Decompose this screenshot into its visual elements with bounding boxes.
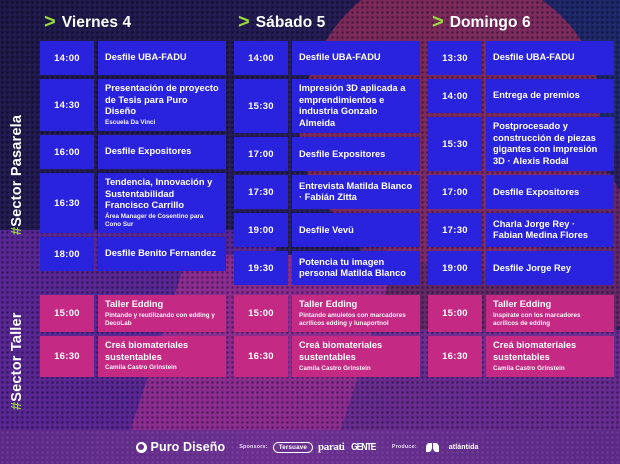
day-title: Sábado 5 (256, 14, 326, 32)
hash-icon: # (9, 227, 25, 235)
event-title: Desfile Vevü (299, 225, 413, 237)
day-column: >Viernes 414:00Desfile UBA-FADU14:30Pres… (40, 10, 226, 377)
chevron-right-icon: > (432, 12, 444, 32)
event-title: Desfile Jorge Rey (493, 263, 607, 275)
producer-name: atlántida (449, 444, 479, 451)
event-body: Entrega de premios (486, 79, 614, 113)
event-title: Postprocesado y construcción de piezas g… (493, 121, 607, 167)
sponsor-tersuave-logo: Tersuave (273, 442, 313, 453)
day-header: >Sábado 5 (234, 10, 420, 36)
schedule-row[interactable]: 15:30Impresión 3D aplicada a emprendimie… (234, 79, 420, 133)
event-time: 15:00 (40, 295, 94, 332)
day-columns: >Viernes 414:00Desfile UBA-FADU14:30Pres… (40, 10, 614, 377)
brand-label: Puro Diseño (151, 440, 226, 454)
schedule-row[interactable]: 17:30Entrevista Matilda Blanco · Fabián … (234, 175, 420, 209)
event-title: Desfile UBA-FADU (105, 52, 219, 64)
event-time: 15:00 (234, 295, 288, 332)
event-time: 18:00 (40, 237, 94, 271)
event-title: Desfile UBA-FADU (299, 52, 413, 64)
event-title: Desfile Benito Fernandez (105, 248, 219, 260)
event-time: 19:30 (234, 251, 288, 285)
event-time: 19:00 (234, 213, 288, 247)
schedule-row[interactable]: 16:30Creá biomateriales sustentablesCami… (40, 336, 226, 376)
schedule-row[interactable]: 14:00Entrega de premios (428, 79, 614, 113)
schedule-row[interactable]: 14:00Desfile UBA-FADU (40, 41, 226, 75)
schedule-row[interactable]: 15:00Taller EddingPintando y reutilizand… (40, 295, 226, 332)
schedule-row[interactable]: 16:30Creá biomateriales sustentablesCami… (234, 336, 420, 376)
event-body: Desfile Expositores (486, 175, 614, 209)
schedule-row[interactable]: 16:30Tendencia, Innovación y Sustentabil… (40, 173, 226, 233)
event-body: Potencia tu imagen personal Matilda Blan… (292, 251, 420, 285)
footer: Puro Diseño Sponsors: Tersuave parati GE… (0, 430, 620, 464)
event-title: Desfile Expositores (299, 149, 413, 161)
event-time: 16:30 (234, 336, 288, 376)
event-body: Desfile UBA-FADU (98, 41, 226, 75)
event-subtitle: Camila Castro Grinstein (299, 365, 413, 373)
taller-block: 15:00Taller EddingPintando amuletos con … (234, 295, 420, 376)
sector-label-pasarela: #Sector Pasarela (0, 70, 34, 280)
event-time: 15:30 (234, 79, 288, 133)
pasarela-block: 14:00Desfile UBA-FADU15:30Impresión 3D a… (234, 41, 420, 285)
event-time: 16:30 (40, 173, 94, 233)
pasarela-block: 13:30Desfile UBA-FADU14:00Entrega de pre… (428, 41, 614, 285)
event-title: Creá biomateriales sustentables (299, 340, 413, 363)
event-subtitle: Pintando amuletos con marcadores acrílic… (299, 312, 413, 328)
event-time: 16:00 (40, 135, 94, 169)
event-time: 16:30 (428, 336, 482, 376)
chevron-right-icon: > (238, 12, 250, 32)
event-subtitle: Escuela Da Vinci (105, 119, 219, 127)
schedule-row[interactable]: 19:00Desfile Vevü (234, 213, 420, 247)
event-title: Desfile UBA-FADU (493, 52, 607, 64)
event-time: 16:30 (40, 336, 94, 376)
taller-block: 15:00Taller EddingPintando y reutilizand… (40, 295, 226, 376)
event-title: Potencia tu imagen personal Matilda Blan… (299, 257, 413, 280)
event-time: 17:00 (428, 175, 482, 209)
brand-logo-icon (136, 442, 147, 453)
hash-icon: # (9, 402, 25, 410)
event-subtitle: Inspirate con los marcadores acrílicos d… (493, 312, 607, 328)
event-subtitle: Área Manager de Cosentino para Cono Sur (105, 213, 219, 229)
schedule-row[interactable]: 16:00Desfile Expositores (40, 135, 226, 169)
event-title: Entrega de premios (493, 90, 607, 102)
sector-taller-text: Sector Taller (9, 312, 25, 401)
sector-label-taller: #Sector Taller (0, 296, 34, 426)
event-title: Creá biomateriales sustentables (105, 340, 219, 363)
event-time: 17:00 (234, 137, 288, 171)
event-subtitle: Camila Castro Grinstein (105, 364, 219, 372)
event-body: Charla Jorge Rey · Fabian Medina Flores (486, 213, 614, 247)
event-body: Desfile UBA-FADU (292, 41, 420, 75)
schedule-row[interactable]: 19:30Potencia tu imagen personal Matilda… (234, 251, 420, 285)
event-title: Entrevista Matilda Blanco · Fabián Zitta (299, 181, 413, 204)
event-time: 14:00 (428, 79, 482, 113)
day-title: Viernes 4 (62, 14, 132, 32)
event-body: Desfile Expositores (292, 137, 420, 171)
event-title: Impresión 3D aplicada a emprendimientos … (299, 83, 413, 129)
producer-group: Produce: atlántida (392, 442, 479, 453)
event-time: 17:30 (234, 175, 288, 209)
day-header: >Domingo 6 (428, 10, 614, 36)
event-title: Creá biomateriales sustentables (493, 340, 607, 363)
event-body: Desfile UBA-FADU (486, 41, 614, 75)
day-header: >Viernes 4 (40, 10, 226, 36)
event-body: Postprocesado y construcción de piezas g… (486, 117, 614, 171)
sector-pasarela-text: Sector Pasarela (9, 115, 25, 227)
event-body: Tendencia, Innovación y Sustentabilidad … (98, 173, 226, 233)
event-title: Desfile Expositores (493, 187, 607, 199)
event-title: Charla Jorge Rey · Fabian Medina Flores (493, 219, 607, 242)
event-body: Impresión 3D aplicada a emprendimientos … (292, 79, 420, 133)
sponsors-group: Sponsors: Tersuave parati GENTE (239, 441, 378, 453)
event-body: Creá biomateriales sustentablesCamila Ca… (486, 336, 614, 376)
schedule-row[interactable]: 17:00Desfile Expositores (428, 175, 614, 209)
day-column: >Domingo 613:30Desfile UBA-FADU14:00Entr… (428, 10, 614, 377)
event-title: Tendencia, Innovación y Sustentabilidad … (105, 177, 219, 212)
schedule-row[interactable]: 16:30Creá biomateriales sustentablesCami… (428, 336, 614, 376)
event-body: Entrevista Matilda Blanco · Fabián Zitta (292, 175, 420, 209)
event-title: Taller Edding (493, 299, 607, 311)
pasarela-block: 14:00Desfile UBA-FADU14:30Presentación d… (40, 41, 226, 271)
event-title: Presentación de proyecto de Tesis para P… (105, 83, 219, 118)
event-time: 13:30 (428, 41, 482, 75)
schedule-row[interactable]: 18:00Desfile Benito Fernandez (40, 237, 226, 271)
event-title: Taller Edding (299, 299, 413, 311)
event-time: 15:00 (428, 295, 482, 332)
event-title: Desfile Expositores (105, 146, 219, 158)
event-body: Creá biomateriales sustentablesCamila Ca… (292, 336, 420, 376)
event-body: Taller EddingInspirate con los marcadore… (486, 295, 614, 332)
event-time: 14:00 (40, 41, 94, 75)
sponsor-gente-logo: GENTE (352, 442, 376, 453)
schedule-row[interactable]: 15:00Taller EddingPintando amuletos con … (234, 295, 420, 332)
sponsors-label: Sponsors: (239, 444, 267, 450)
event-body: Presentación de proyecto de Tesis para P… (98, 79, 226, 131)
schedule-row[interactable]: 17:30Charla Jorge Rey · Fabian Medina Fl… (428, 213, 614, 247)
schedule-row[interactable]: 13:30Desfile UBA-FADU (428, 41, 614, 75)
event-body: Desfile Expositores (98, 135, 226, 169)
event-time: 14:30 (40, 79, 94, 131)
event-body: Desfile Vevü (292, 213, 420, 247)
producer-label: Produce: (392, 444, 417, 450)
event-body: Taller EddingPintando y reutilizando con… (98, 295, 226, 332)
schedule-row[interactable]: 14:00Desfile UBA-FADU (234, 41, 420, 75)
event-time: 15:30 (428, 117, 482, 171)
schedule-poster: #Sector Pasarela #Sector Taller >Viernes… (0, 0, 620, 464)
chevron-right-icon: > (44, 12, 56, 32)
event-body: Creá biomateriales sustentablesCamila Ca… (98, 336, 226, 376)
event-subtitle: Pintando y reutilizando con edding y Dec… (105, 312, 219, 328)
schedule-row[interactable]: 15:30Postprocesado y construcción de pie… (428, 117, 614, 171)
event-subtitle: Camila Castro Grinstein (493, 365, 607, 373)
day-title: Domingo 6 (450, 14, 531, 32)
event-body: Desfile Jorge Rey (486, 251, 614, 285)
event-title: Taller Edding (105, 299, 219, 311)
day-column: >Sábado 514:00Desfile UBA-FADU15:30Impre… (234, 10, 420, 377)
brand-puro-diseno: Puro Diseño (136, 440, 226, 454)
schedule-row[interactable]: 14:30Presentación de proyecto de Tesis p… (40, 79, 226, 131)
schedule-row[interactable]: 15:00Taller EddingInspirate con los marc… (428, 295, 614, 332)
event-body: Desfile Benito Fernandez (98, 237, 226, 271)
event-time: 14:00 (234, 41, 288, 75)
event-time: 17:30 (428, 213, 482, 247)
event-body: Taller EddingPintando amuletos con marca… (292, 295, 420, 332)
taller-block: 15:00Taller EddingInspirate con los marc… (428, 295, 614, 376)
sponsor-parati-logo: parati (318, 441, 344, 453)
schedule-row[interactable]: 19:00Desfile Jorge Rey (428, 251, 614, 285)
atlantida-logo-icon (422, 442, 444, 453)
event-time: 19:00 (428, 251, 482, 285)
schedule-row[interactable]: 17:00Desfile Expositores (234, 137, 420, 171)
